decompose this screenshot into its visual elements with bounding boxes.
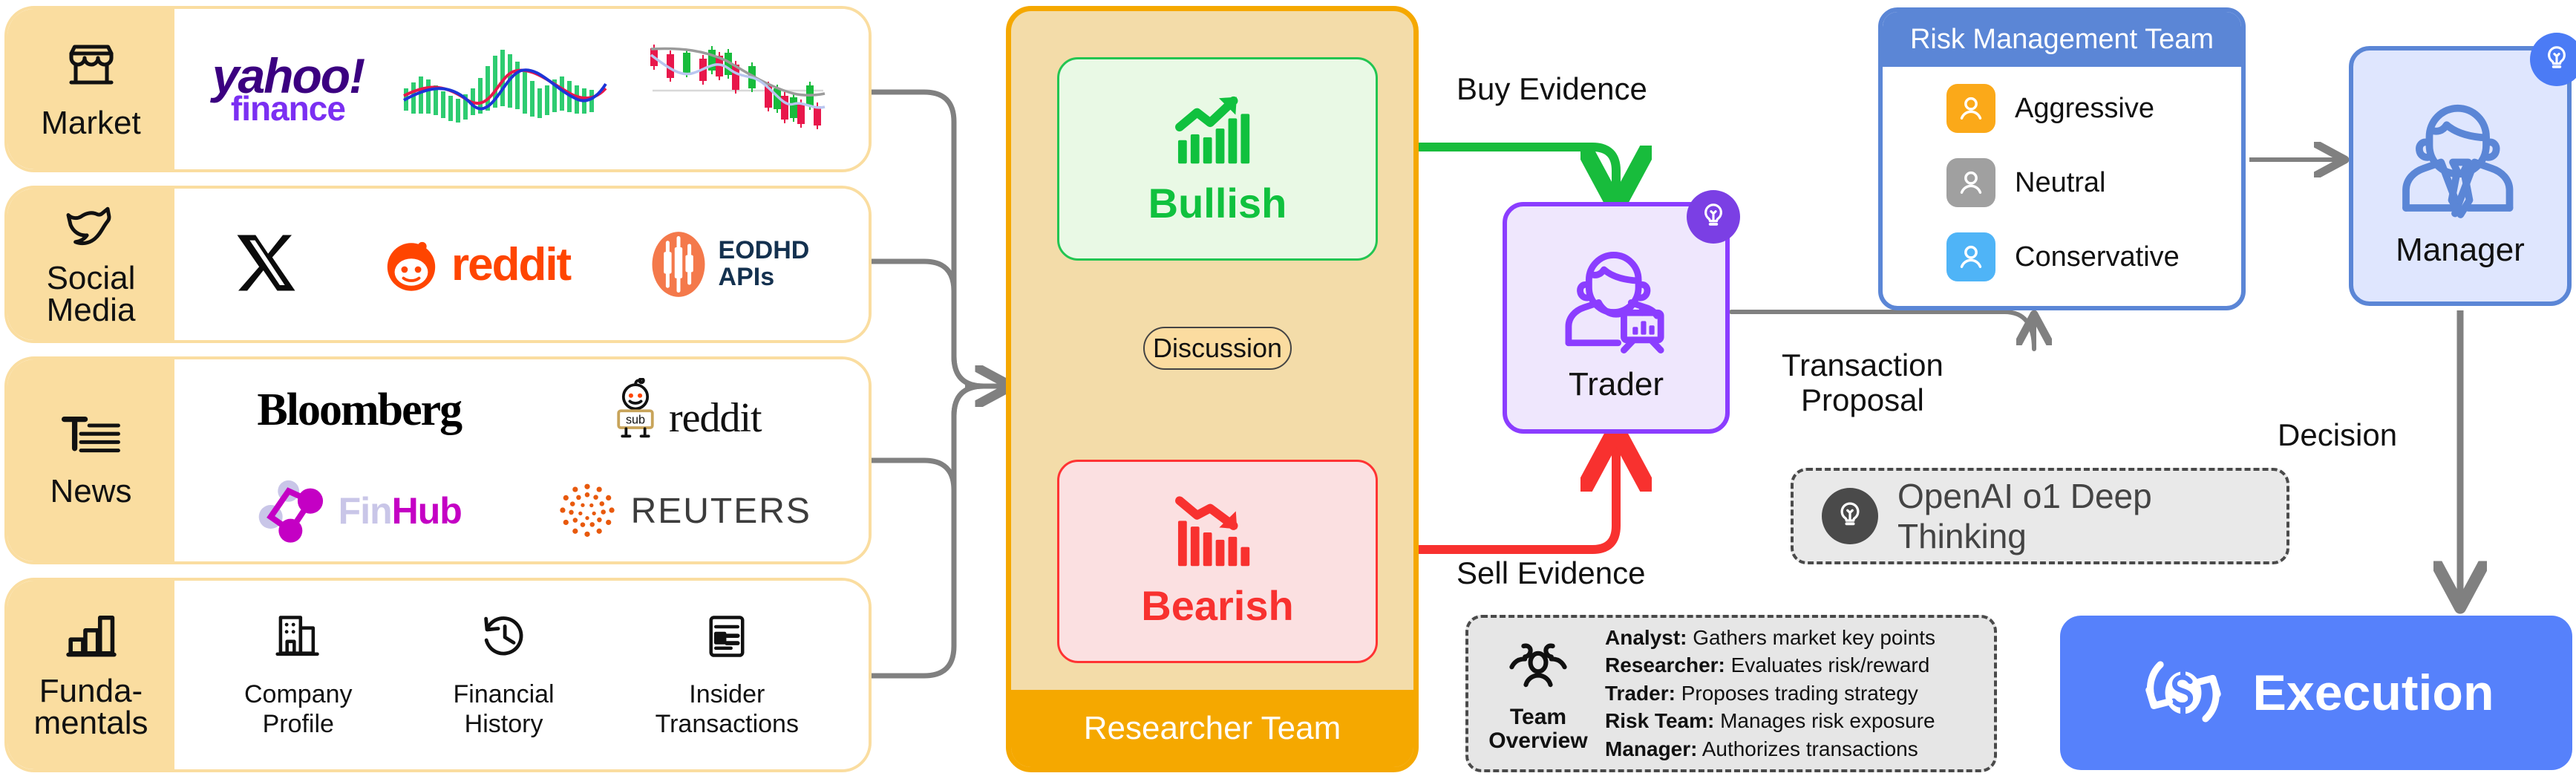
openai-badge-text: OpenAI o1 Deep Thinking bbox=[1897, 476, 2286, 556]
storefront-icon bbox=[63, 38, 120, 98]
transaction-proposal-label: Transaction Proposal bbox=[1782, 348, 1944, 417]
overview-row: Analyst: Gathers market key points bbox=[1605, 625, 1984, 651]
eodhd-line1: EODHD bbox=[719, 238, 810, 264]
financial-history-item[interactable]: Financial History bbox=[454, 611, 555, 738]
trend-up-bars-icon bbox=[1173, 91, 1262, 176]
manager-label: Manager bbox=[2396, 232, 2525, 269]
financial-history-line1: Financial bbox=[454, 680, 555, 708]
overview-role: Researcher: bbox=[1605, 653, 1725, 676]
transaction-proposal-line1: Transaction bbox=[1782, 348, 1944, 382]
finhub-word-hub: Hub bbox=[392, 490, 462, 532]
decision-label: Decision bbox=[2278, 417, 2397, 452]
lightbulb-circle-icon bbox=[1822, 488, 1878, 544]
source-label-text: News bbox=[50, 475, 131, 509]
source-label-fundamentals: Funda- mentals bbox=[7, 581, 174, 769]
history-clock-icon bbox=[479, 611, 529, 668]
overview-row: Trader: Proposes trading strategy bbox=[1605, 680, 1984, 707]
risk-member-label: Conservative bbox=[2015, 241, 2180, 273]
risk-member-neutral[interactable]: Neutral bbox=[1883, 146, 2241, 220]
buy-evidence-label: Buy Evidence bbox=[1457, 71, 1647, 106]
sell-evidence-label: Sell Evidence bbox=[1457, 555, 1645, 590]
dollar-refresh-icon bbox=[2139, 647, 2228, 740]
bloomberg-logo[interactable]: Bloomberg bbox=[257, 384, 461, 437]
reddit-wordmark: reddit bbox=[451, 238, 570, 291]
overview-role: Trader: bbox=[1605, 682, 1676, 705]
discussion-pill[interactable]: Discussion bbox=[1143, 327, 1292, 370]
insider-transactions-line2: Transactions bbox=[656, 710, 799, 738]
trader-presenter-icon bbox=[1553, 233, 1679, 363]
risk-member-conservative[interactable]: Conservative bbox=[1883, 220, 2241, 294]
team-overview-legend: Team Overview Analyst: Gathers market ke… bbox=[1465, 615, 1997, 772]
x-twitter-logo[interactable] bbox=[234, 229, 301, 300]
openai-deep-thinking-badge[interactable]: OpenAI o1 Deep Thinking bbox=[1791, 468, 2289, 564]
source-row-market[interactable]: Market yahoo! finance bbox=[4, 6, 872, 172]
eodhd-apis-logo[interactable]: EODHD APIs bbox=[650, 229, 810, 300]
risk-team-title-text: Risk Management Team bbox=[1910, 24, 2214, 56]
source-body-social-media: reddit EODHD bbox=[174, 189, 869, 340]
buy-evidence-text: Buy Evidence bbox=[1457, 71, 1647, 106]
overview-desc: Manages risk exposure bbox=[1720, 709, 1935, 732]
lightbulb-icon bbox=[2530, 33, 2576, 86]
eodhd-line2: APIs bbox=[719, 264, 810, 291]
source-label-market: Market bbox=[7, 9, 174, 169]
source-row-news[interactable]: News Bloomberg sub reddit bbox=[4, 356, 872, 564]
subreddit-wordmark: reddit bbox=[669, 394, 762, 442]
lightbulb-icon bbox=[1687, 190, 1740, 244]
subreddit-logo[interactable]: sub reddit bbox=[607, 378, 762, 442]
team-overview-left: Team Overview bbox=[1476, 635, 1601, 753]
person-icon bbox=[1946, 232, 1995, 281]
overview-row: Risk Team: Manages risk exposure bbox=[1605, 708, 1984, 734]
document-icon bbox=[702, 611, 752, 668]
person-icon bbox=[1946, 158, 1995, 207]
researcher-team-panel: Bullish Discussion Bearish Re bbox=[1006, 6, 1419, 772]
trader-label: Trader bbox=[1569, 366, 1664, 403]
bird-icon bbox=[62, 201, 120, 254]
insider-transactions-item[interactable]: Insider Transactions bbox=[656, 611, 799, 738]
overview-desc: Evaluates risk/reward bbox=[1731, 653, 1930, 676]
source-merge-connectors bbox=[870, 92, 984, 676]
bearish-label: Bearish bbox=[1141, 581, 1293, 630]
source-body-news: Bloomberg sub reddit bbox=[174, 359, 869, 561]
source-label-text-line1: Social bbox=[47, 261, 136, 296]
bar-chart-icon bbox=[63, 610, 120, 667]
source-label-text-line2: Media bbox=[47, 293, 136, 327]
risk-management-team-panel: Risk Management Team Aggressive bbox=[1878, 7, 2246, 310]
decision-text: Decision bbox=[2278, 417, 2397, 452]
source-row-social-media[interactable]: Social Media reddit bbox=[4, 186, 872, 343]
diagram-canvas: Market yahoo! finance bbox=[0, 0, 2576, 776]
overview-role: Analyst: bbox=[1605, 626, 1687, 649]
company-profile-item[interactable]: Company Profile bbox=[244, 611, 353, 738]
trend-down-bars-icon bbox=[1173, 493, 1262, 578]
source-row-fundamentals[interactable]: Funda- mentals bbox=[4, 578, 872, 772]
risk-team-body: Aggressive Neutral Conse bbox=[1883, 67, 2241, 294]
researcher-team-label: Researcher Team bbox=[1084, 710, 1341, 747]
overview-row: Researcher: Evaluates risk/reward bbox=[1605, 652, 1984, 679]
sell-evidence-text: Sell Evidence bbox=[1457, 555, 1645, 590]
execution-card[interactable]: Execution bbox=[2060, 616, 2572, 770]
source-label-text-line1: Funda- bbox=[39, 674, 143, 708]
trader-card[interactable]: Trader bbox=[1503, 202, 1730, 434]
manager-suit-icon bbox=[2388, 83, 2533, 232]
svg-text:sub: sub bbox=[626, 414, 645, 427]
team-overview-rows: Analyst: Gathers market key points Resea… bbox=[1605, 625, 1984, 763]
team-overview-title-line2: Overview bbox=[1488, 729, 1587, 753]
sell-evidence-edge bbox=[1419, 443, 1616, 550]
volume-bars-chart bbox=[401, 39, 609, 140]
discussion-label: Discussion bbox=[1153, 333, 1282, 364]
source-label-news: News bbox=[7, 359, 174, 561]
bullish-label: Bullish bbox=[1148, 179, 1287, 227]
reuters-wordmark: REUTERS bbox=[631, 491, 811, 532]
bullish-card[interactable]: Bullish bbox=[1057, 57, 1378, 261]
source-body-market: yahoo! finance bbox=[174, 9, 869, 169]
risk-member-label: Neutral bbox=[2015, 167, 2106, 199]
company-profile-line2: Profile bbox=[263, 710, 334, 738]
reuters-logo[interactable]: REUTERS bbox=[557, 480, 811, 541]
risk-member-label: Aggressive bbox=[2015, 93, 2154, 125]
team-overview-title-line1: Team bbox=[1510, 705, 1566, 729]
source-body-fundamentals: Company Profile Financial History bbox=[174, 581, 869, 769]
finhub-logo[interactable]: FinHub bbox=[257, 479, 462, 543]
risk-team-title: Risk Management Team bbox=[1883, 12, 2241, 67]
office-building-icon bbox=[273, 611, 324, 668]
buy-evidence-edge bbox=[1419, 147, 1616, 195]
source-label-text-line2: mentals bbox=[33, 706, 148, 740]
overview-role: Manager: bbox=[1605, 737, 1697, 760]
finhub-word-fin: Fin bbox=[339, 490, 392, 532]
newspaper-icon bbox=[60, 412, 122, 466]
reddit-logo[interactable]: reddit bbox=[380, 233, 570, 296]
insider-transactions-line1: Insider bbox=[689, 680, 765, 708]
overview-desc: Gathers market key points bbox=[1693, 626, 1935, 649]
finance-word: finance bbox=[212, 94, 364, 124]
bearish-card[interactable]: Bearish bbox=[1057, 460, 1378, 663]
overview-desc: Authorizes transactions bbox=[1702, 737, 1918, 760]
source-label-text: Market bbox=[41, 106, 140, 140]
group-people-icon bbox=[1504, 635, 1572, 701]
overview-row: Manager: Authorizes transactions bbox=[1605, 736, 1984, 763]
financial-history-line2: History bbox=[465, 710, 543, 738]
candlestick-chart bbox=[645, 36, 831, 143]
company-profile-line1: Company bbox=[244, 680, 353, 708]
overview-role: Risk Team: bbox=[1605, 709, 1714, 732]
risk-member-aggressive[interactable]: Aggressive bbox=[1883, 71, 2241, 146]
transaction-proposal-line2: Proposal bbox=[1782, 382, 1944, 417]
manager-card[interactable]: Manager bbox=[2349, 46, 2572, 306]
overview-desc: Proposes trading strategy bbox=[1681, 682, 1918, 705]
execution-label: Execution bbox=[2253, 664, 2494, 722]
person-icon bbox=[1946, 84, 1995, 133]
researcher-team-footer: Researcher Team bbox=[1011, 690, 1413, 767]
source-label-social-media: Social Media bbox=[7, 189, 174, 340]
yahoo-finance-logo[interactable]: yahoo! finance bbox=[212, 54, 364, 125]
